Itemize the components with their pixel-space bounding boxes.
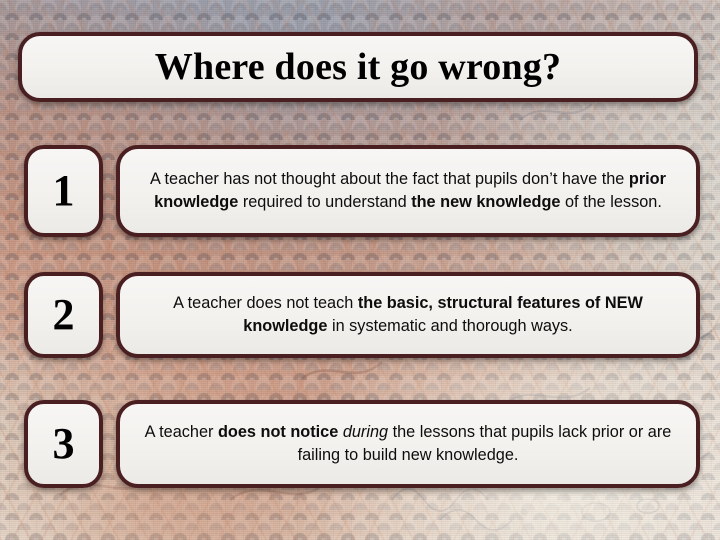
item-1-segment-3: the new knowledge [411, 193, 560, 211]
item-1-segment-4: of the lesson. [560, 193, 661, 211]
item-3-segment-3: during [343, 423, 388, 441]
title-panel: Where does it go wrong? [18, 32, 698, 102]
item-number-badge-1: 1 [24, 145, 103, 237]
item-3-segment-0: A teacher [145, 423, 218, 441]
item-2-segment-2: in systematic and thorough ways. [327, 317, 572, 335]
item-number-badge-3: 3 [24, 400, 103, 488]
item-3-segment-1: does not notice [218, 423, 338, 441]
item-text-2: A teacher does not teach the basic, stru… [138, 292, 678, 338]
item-number-3: 3 [53, 422, 75, 466]
item-1-segment-2: required to understand [238, 193, 411, 211]
item-number-2: 2 [53, 293, 75, 337]
item-body-panel-2: A teacher does not teach the basic, stru… [116, 272, 700, 358]
page-title: Where does it go wrong? [155, 45, 561, 89]
item-text-1: A teacher has not thought about the fact… [138, 168, 678, 214]
slide-canvas: Where does it go wrong? 1 A teacher has … [0, 0, 720, 540]
item-number-badge-2: 2 [24, 272, 103, 358]
item-number-1: 1 [53, 169, 75, 213]
item-2-segment-0: A teacher does not teach [173, 294, 358, 312]
item-1-segment-0: A teacher has not thought about the fact… [150, 170, 629, 188]
item-text-3: A teacher does not notice during the les… [138, 421, 678, 467]
item-body-panel-1: A teacher has not thought about the fact… [116, 145, 700, 237]
item-body-panel-3: A teacher does not notice during the les… [116, 400, 700, 488]
